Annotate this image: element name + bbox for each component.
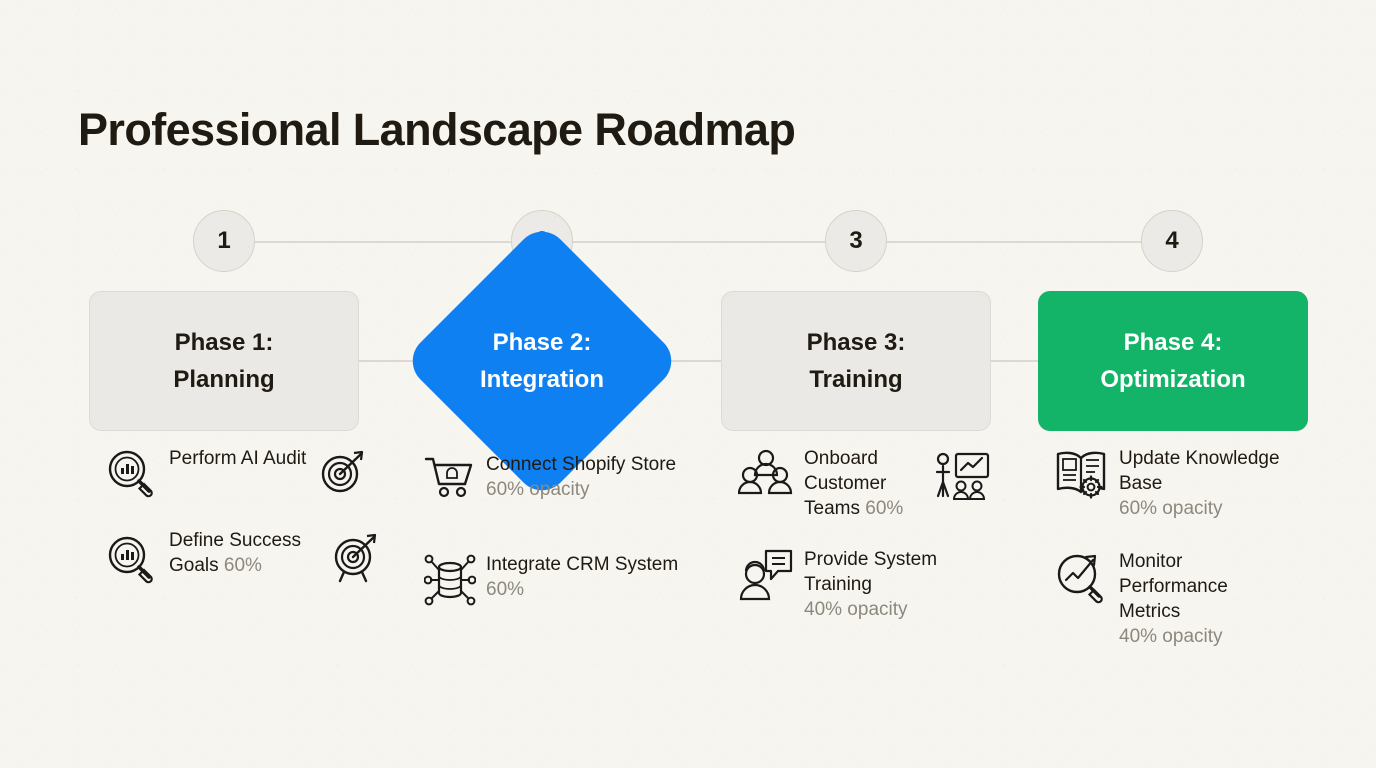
phase-node-1[interactable]: Phase 1: Planning	[89, 291, 359, 431]
magnifier-bar-chart-icon	[103, 530, 159, 592]
target-arrow-stand-icon	[329, 530, 383, 592]
task-label-text: Integrate CRM System	[486, 554, 678, 575]
phase-node-4[interactable]: Phase 4: Optimization	[1038, 291, 1308, 431]
timeline-step-4[interactable]: 4	[1141, 210, 1203, 272]
phase-node-3[interactable]: Phase 3: Training	[721, 291, 991, 431]
task-label: Connect Shopify Store 60% opacity	[486, 452, 694, 502]
shopping-cart-icon	[424, 454, 476, 500]
phase-4-task-list: Update Knowledge Base 60% opacity Monito…	[1053, 446, 1333, 668]
task-item[interactable]: Integrate CRM System 60%	[424, 552, 694, 606]
phase-2-title-line1: Phase 2:	[493, 329, 592, 356]
phase-4-title: Phase 4: Optimization	[1100, 324, 1245, 398]
phase-1-title-line2: Planning	[173, 366, 274, 393]
presentation-training-icon	[934, 452, 990, 504]
task-item[interactable]: Perform AI Audit	[103, 446, 383, 498]
timeline-step-4-number: 4	[1165, 227, 1178, 255]
group-of-people-icon	[738, 448, 794, 500]
task-item[interactable]: Connect Shopify Store 60% opacity	[424, 452, 694, 502]
phase-4-title-line1: Phase 4:	[1124, 329, 1223, 356]
task-label-text: Provide System Training	[804, 549, 937, 595]
target-arrow-icon	[316, 448, 370, 498]
phase-2-task-list: Connect Shopify Store 60% opacity	[424, 446, 694, 624]
task-note: 60%	[865, 498, 903, 519]
task-item[interactable]: Provide System Training 40% opacity	[738, 547, 1003, 622]
task-note: 60% opacity	[486, 479, 590, 500]
task-note: 60% opacity	[1119, 498, 1223, 519]
roadmap-canvas: Professional Landscape Roadmap 1 2 3 4 P…	[0, 0, 1376, 768]
task-item[interactable]: Onboard Customer Teams 60%	[738, 446, 1003, 521]
magnifier-trend-arrow-icon	[1053, 551, 1109, 607]
phase-2-title-line2: Integration	[480, 366, 604, 393]
task-label: Provide System Training 40% opacity	[804, 547, 994, 622]
phase-3-title: Phase 3: Training	[807, 324, 906, 398]
task-note: 60%	[224, 555, 262, 576]
task-item[interactable]: Define Success Goals 60%	[103, 528, 383, 592]
crm-database-network-icon	[424, 554, 476, 606]
task-item[interactable]: Monitor Performance Metrics 40% opacity	[1053, 549, 1333, 649]
timeline-step-3-number: 3	[849, 227, 862, 255]
task-label: Integrate CRM System 60%	[486, 552, 694, 602]
task-note: 40% opacity	[804, 599, 908, 620]
phase-4-title-line2: Optimization	[1100, 366, 1245, 393]
task-note: 60%	[486, 579, 524, 600]
timeline-rail	[224, 241, 1172, 243]
task-label-text: Update Knowledge Base	[1119, 448, 1280, 494]
phase-1-title: Phase 1: Planning	[173, 324, 274, 398]
task-label-text: Monitor Performance Metrics	[1119, 551, 1228, 622]
phase-1-title-line1: Phase 1:	[175, 329, 274, 356]
task-label: Monitor Performance Metrics 40% opacity	[1119, 549, 1279, 649]
page-title: Professional Landscape Roadmap	[78, 104, 795, 156]
task-item[interactable]: Update Knowledge Base 60% opacity	[1053, 446, 1333, 521]
timeline-step-1[interactable]: 1	[193, 210, 255, 272]
phase-3-task-list: Onboard Customer Teams 60%	[738, 446, 1003, 640]
task-label: Define Success Goals 60%	[169, 528, 319, 578]
phase-3-title-line1: Phase 3:	[807, 329, 906, 356]
task-label: Onboard Customer Teams 60%	[804, 446, 924, 521]
task-label-text: Connect Shopify Store	[486, 454, 676, 475]
task-label: Update Knowledge Base 60% opacity	[1119, 446, 1319, 521]
task-note: 40% opacity	[1119, 626, 1223, 647]
timeline-step-1-number: 1	[217, 227, 230, 255]
task-label-text: Perform AI Audit	[169, 448, 306, 469]
task-label: Perform AI Audit	[169, 446, 306, 471]
phase-3-title-line2: Training	[809, 366, 902, 393]
phase-1-task-list: Perform AI Audit	[103, 446, 383, 610]
magnifier-bar-chart-icon	[103, 448, 159, 498]
phase-connector-3-4	[991, 360, 1040, 362]
timeline-step-3[interactable]: 3	[825, 210, 887, 272]
phase-2-title: Phase 2: Integration	[407, 291, 677, 431]
open-book-gear-icon	[1053, 448, 1109, 500]
person-speech-bubble-icon	[738, 549, 794, 605]
